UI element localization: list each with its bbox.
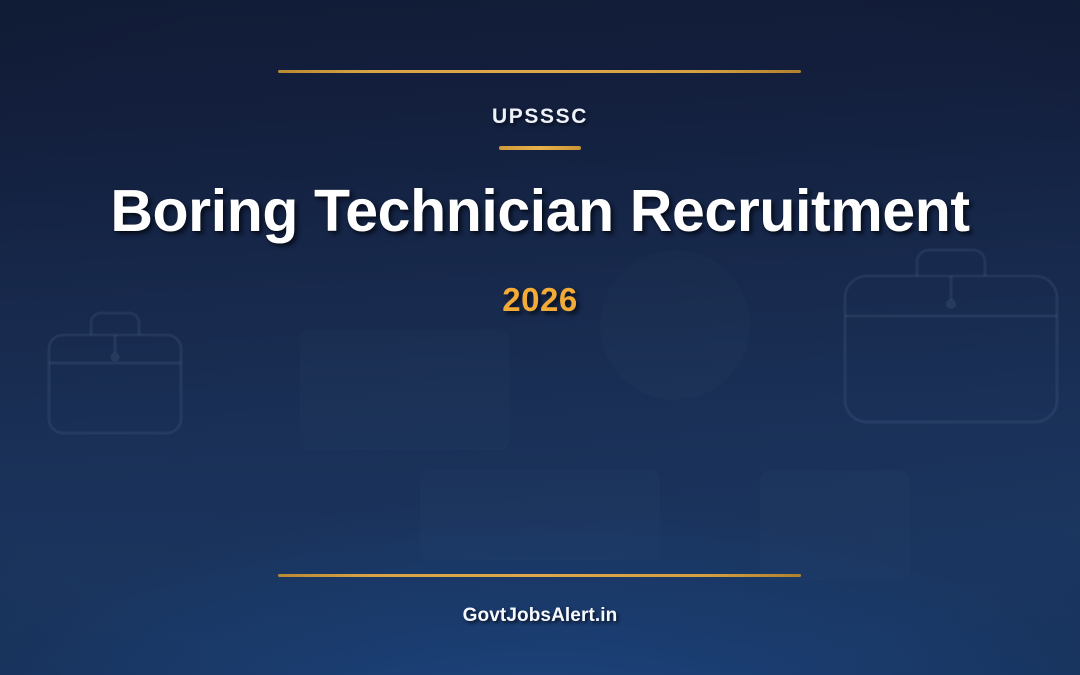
recruitment-banner: UPSSSC Boring Technician Recruitment 202… (0, 0, 1080, 675)
organization-name: UPSSSC (0, 105, 1080, 129)
page-title: Boring Technician Recruitment (0, 181, 1080, 243)
banner-content: UPSSSC Boring Technician Recruitment 202… (0, 0, 1080, 675)
bottom-divider-rule (278, 574, 801, 577)
top-divider-rule (278, 70, 801, 73)
recruitment-year: 2026 (0, 281, 1080, 319)
site-name: GovtJobsAlert.in (0, 605, 1080, 627)
organization-underline (499, 146, 581, 150)
